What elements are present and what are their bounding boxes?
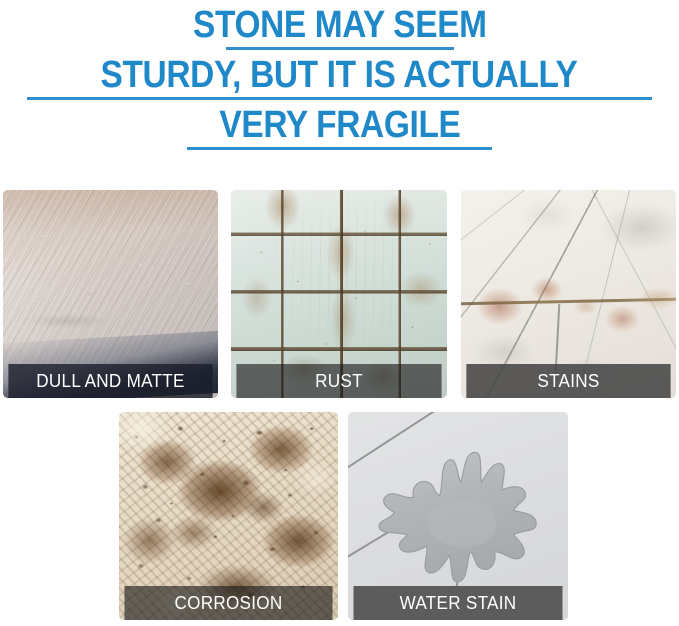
water-stain-splash	[366, 445, 555, 595]
tile-caption-bar: DULL AND MATTE	[8, 364, 212, 398]
photo-tile-stains: STAINS	[461, 190, 676, 398]
headline-line-3-text: VERY FRAGILE	[219, 106, 460, 144]
tile-caption-label: WATER STAIN	[400, 593, 517, 614]
photo-tile-rust: RUST	[231, 190, 447, 398]
headline-block: STONE MAY SEEM STURDY, BUT IT IS ACTUALL…	[0, 0, 679, 150]
headline-line-1-text: STONE MAY SEEM	[193, 6, 487, 44]
tile-caption-bar: CORROSION	[124, 586, 332, 620]
headline-line-1: STONE MAY SEEM	[0, 6, 679, 50]
headline-line-3: VERY FRAGILE	[0, 106, 679, 150]
photo-tile-corrosion: CORROSION	[119, 412, 338, 620]
headline-line-2: STURDY, BUT IT IS ACTUALLY	[0, 56, 679, 100]
headline-line-2-text: STURDY, BUT IT IS ACTUALLY	[101, 56, 578, 94]
headline-underline-1	[226, 47, 454, 50]
tile-caption-label: STAINS	[537, 371, 599, 392]
tile-caption-bar: WATER STAIN	[354, 586, 563, 620]
tile-caption-label: RUST	[315, 371, 363, 392]
headline-underline-2	[27, 97, 652, 100]
tile-caption-bar: STAINS	[466, 364, 670, 398]
headline-underline-3	[187, 147, 492, 150]
photo-tile-dull-and-matte: DULL AND MATTE	[3, 190, 218, 398]
tile-caption-label: CORROSION	[174, 593, 282, 614]
tile-caption-bar: RUST	[236, 364, 441, 398]
water-splash-shape	[366, 445, 555, 595]
photo-tile-water-stain: WATER STAIN	[348, 412, 568, 620]
tile-caption-label: DULL AND MATTE	[36, 371, 184, 392]
